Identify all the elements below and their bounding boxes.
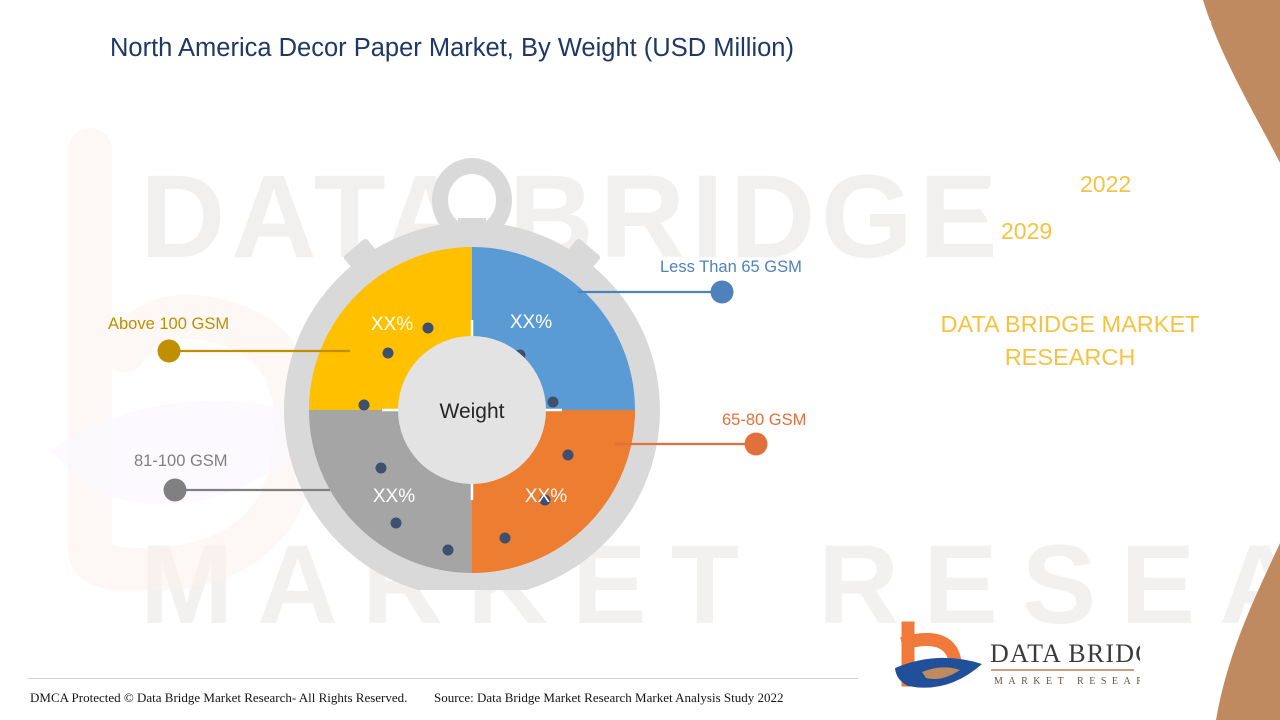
footer: DMCA Protected © Data Bridge Market Rese… (0, 678, 880, 720)
value-label-81-100: XX% (373, 486, 415, 507)
year-hexagon-group: 2022 2029 (960, 130, 1190, 275)
page-title: North America Decor Paper Market, By Wei… (110, 34, 794, 63)
brand-name: DATA BRIDGE MARKET RESEARCH (890, 308, 1250, 374)
callout-label-above-100[interactable]: Above 100 GSM (108, 315, 229, 334)
callout-label-65-80[interactable]: 65-80 GSM (722, 411, 806, 430)
footer-copyright: DMCA Protected © Data Bridge Market Rese… (30, 690, 407, 706)
brand-name-line-1: DATA BRIDGE MARKET (941, 311, 1200, 337)
donut-center-label: Weight (440, 400, 505, 423)
value-label-above-100: XX% (371, 314, 413, 335)
hexagon-2022-label: 2022 (1080, 171, 1131, 198)
callout-label-less-than-65[interactable]: Less Than 65 GSM (660, 258, 802, 277)
donut-chart: Weight XX% XX% XX% XX% (268, 150, 676, 590)
brand-name-line-2: RESEARCH (1005, 344, 1136, 370)
footer-divider (28, 678, 858, 679)
panel-title: North America Decor Paper Market, 2022 t… (880, 10, 1250, 74)
data-bridge-logo: DATA BRIDGE MARKET RESEARCH (890, 620, 1140, 700)
logo-wordmark-main: DATA BRIDGE (990, 639, 1140, 668)
logo-wordmark-sub: MARKET RESEARCH (994, 676, 1140, 687)
right-panel: North America Decor Paper Market, 2022 t… (880, 0, 1280, 720)
footer-source: Source: Data Bridge Market Research Mark… (434, 690, 783, 706)
hexagon-outlines (960, 130, 1190, 275)
callout-label-81-100[interactable]: 81-100 GSM (134, 452, 228, 471)
value-label-less-than-65: XX% (510, 312, 552, 333)
value-label-65-80: XX% (525, 486, 567, 507)
infographic-canvas: DATA BRIDGE MARKET RESEARCH North Americ… (0, 0, 1280, 720)
hexagon-2029-label: 2029 (1001, 218, 1052, 245)
